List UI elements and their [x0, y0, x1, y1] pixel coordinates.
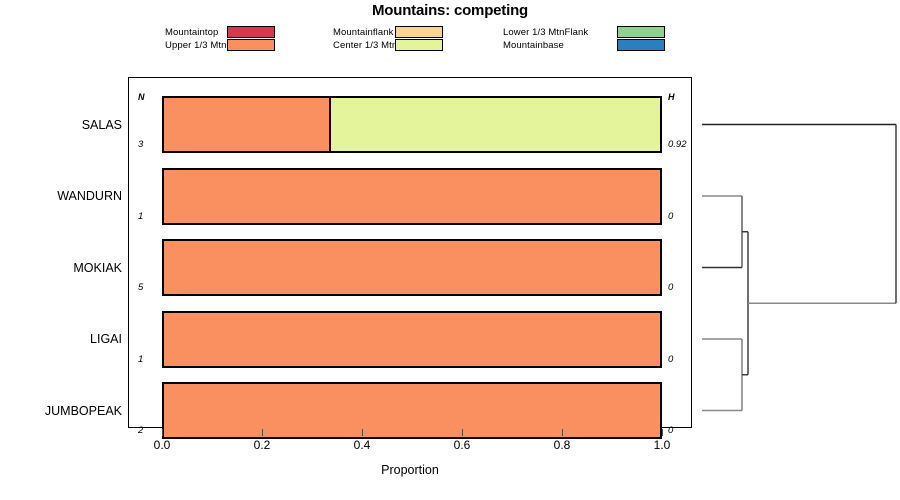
chart-page: Mountains: competing MountaintopUpper 1/…	[0, 0, 900, 500]
x-tick-mark	[462, 429, 463, 436]
x-tick-label: 0.6	[442, 438, 482, 452]
x-tick-mark	[162, 429, 163, 436]
x-tick-label: 0.4	[342, 438, 382, 452]
x-tick-label: 0.2	[242, 438, 282, 452]
x-axis-title: Proportion	[128, 463, 692, 477]
x-tick-label: 1.0	[642, 438, 682, 452]
dendrogram-svg	[700, 77, 900, 428]
x-tick-label: 0.8	[542, 438, 582, 452]
x-tick-mark	[362, 429, 363, 436]
x-tick-mark	[262, 429, 263, 436]
x-tick-label: 0.0	[142, 438, 182, 452]
dendrogram	[700, 77, 900, 428]
x-tick-mark	[662, 429, 663, 436]
x-tick-mark	[562, 429, 563, 436]
